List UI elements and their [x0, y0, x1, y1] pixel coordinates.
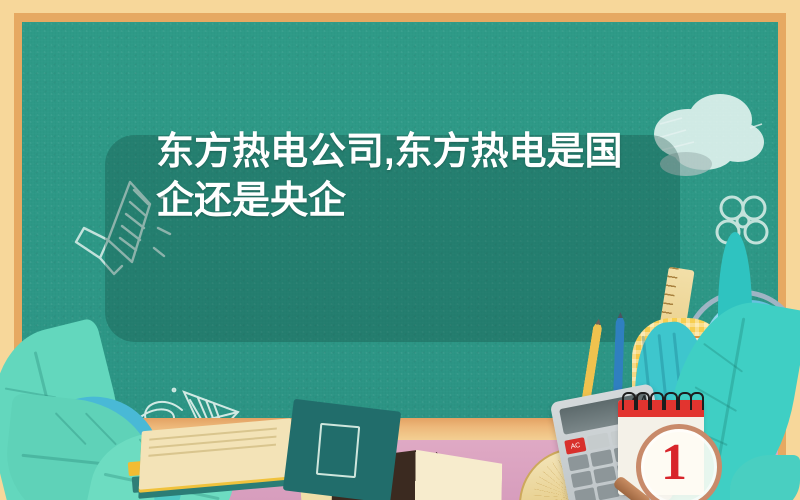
calculator-key[interactable] — [590, 449, 613, 467]
calculator-key[interactable] — [571, 470, 594, 488]
calculator-key[interactable] — [567, 454, 590, 472]
calculator-key[interactable] — [574, 487, 597, 500]
magnifier-number: 1 — [636, 424, 712, 500]
poster-canvas: 东方热电公司,东方热电是国企还是央企 — [0, 0, 800, 500]
calculator-key[interactable] — [587, 433, 610, 451]
calculator-key-ac[interactable]: AC — [564, 437, 587, 455]
notepad-spiral — [622, 392, 700, 408]
calculator-key[interactable] — [594, 466, 617, 484]
page-title: 东方热电公司,东方热电是国企还是央企 — [156, 128, 636, 226]
book-teal-upright — [283, 399, 401, 500]
